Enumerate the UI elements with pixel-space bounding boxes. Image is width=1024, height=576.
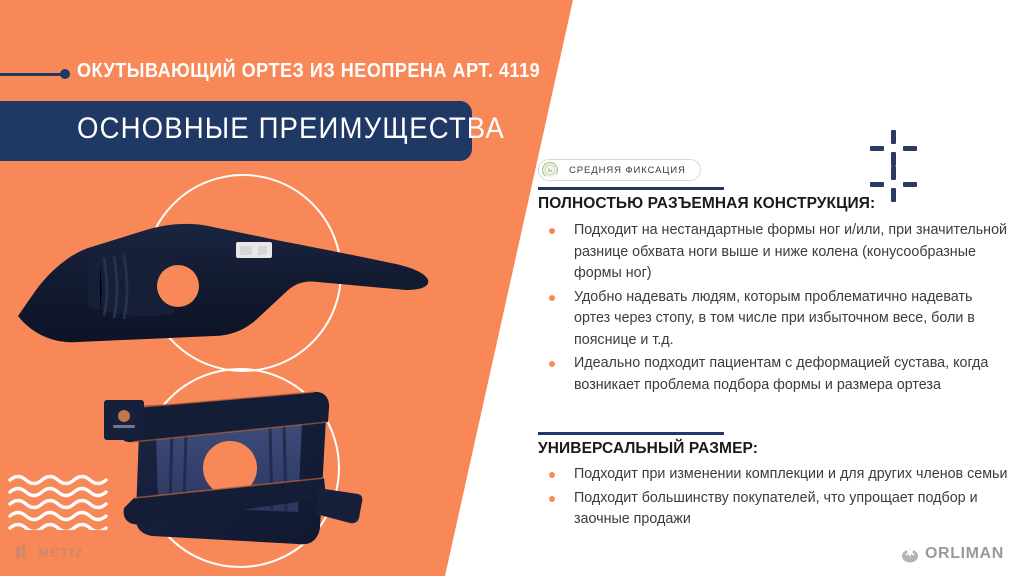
title-rule: [0, 73, 62, 76]
slide-kicker: ОКУТЫВАЮЩИЙ ОРТЕЗ ИЗ НЕОПРЕНА АРТ. 4119: [77, 60, 540, 83]
list-item: Идеально подходит пациентам с деформацие…: [538, 353, 1008, 396]
orliman-label: ORLIMAN: [925, 545, 1004, 563]
list-item: Удобно надевать людям, которым проблемат…: [538, 287, 1008, 352]
fixation-level-badge: fix СРЕДНЯЯ ФИКСАЦИЯ: [538, 159, 701, 181]
list-item: Подходит при изменении комплекции и для …: [538, 464, 1008, 486]
metiz-label: METIZ: [38, 545, 85, 560]
orliman-mark-icon: [900, 544, 920, 564]
orliman-logo: ORLIMAN: [900, 544, 1004, 564]
product-image-knee-brace-wrapped: [96, 378, 364, 564]
section-heading-construction: ПОЛНОСТЬЮ РАЗЪЕМНАЯ КОНСТРУКЦИЯ:: [538, 195, 875, 213]
fixation-level-label: СРЕДНЯЯ ФИКСАЦИЯ: [569, 165, 686, 176]
title-dot: [60, 69, 70, 79]
fixation-level-icon: fix: [541, 161, 559, 179]
slide-canvas: ОКУТЫВАЮЩИЙ ОРТЕЗ ИЗ НЕОПРЕНА АРТ. 4119 …: [0, 0, 1024, 576]
list-item: Подходит большинству покупателей, что уп…: [538, 488, 1008, 531]
waves-decoration: [8, 474, 112, 530]
metiz-mark-icon: [16, 544, 32, 560]
product-image-knee-brace-unwrapped: [18, 194, 438, 354]
crosshair-decoration-icon: [858, 130, 934, 202]
divider-middle: [538, 432, 724, 435]
benefit-list-universal-size: Подходит при изменении комплекции и для …: [538, 464, 1008, 533]
benefit-list-construction: Подходит на нестандартные формы ног и/ил…: [538, 220, 1008, 398]
divider-top: [538, 187, 724, 190]
list-item: Подходит на нестандартные формы ног и/ил…: [538, 220, 1008, 285]
metiz-logo: METIZ: [16, 544, 85, 560]
section-heading-universal-size: УНИВЕРСАЛЬНЫЙ РАЗМЕР:: [538, 440, 758, 458]
page-title: ОСНОВНЫЕ ПРЕИМУЩЕСТВА: [77, 112, 505, 146]
svg-text:fix: fix: [548, 168, 553, 173]
